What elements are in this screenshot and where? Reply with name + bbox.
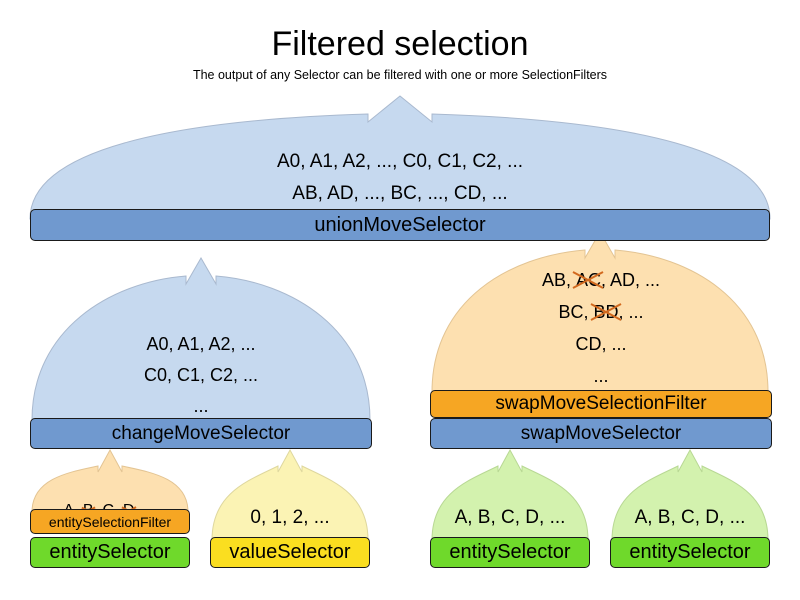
entity-selector-4-bar[interactable]: entitySelector [610,537,770,568]
union-output-text: A0, A1, A2, ..., C0, C1, C2, ... AB, AD,… [30,146,770,210]
swap-output-line-4: ... [432,360,770,392]
union-move-selector-bar[interactable]: unionMoveSelector [30,209,770,241]
value-selector-output-text: 0, 1, 2, ... [210,505,370,531]
swap-output-line-2-pre: BC, [558,302,593,322]
swap-output-line-2: BC, BD, ... [432,296,770,328]
swap-output-text: AB, AC, AD, ... BC, BD, ... CD, ... ... [432,264,770,392]
swap-move-selection-filter-bar[interactable]: swapMoveSelectionFilter [430,390,772,418]
entity-selector-3-bar[interactable]: entitySelector [430,537,590,568]
entity-selector-4-output-text: A, B, C, D, ... [610,505,770,531]
swap-output-line-1-post: , AD, ... [601,270,660,290]
swap-output-line-1: AB, AC, AD, ... [432,264,770,296]
change-output-line-2: C0, C1, C2, ... [32,360,370,391]
union-output-line-1: A0, A1, A2, ..., C0, C1, C2, ... [30,146,770,178]
diagram-canvas: Filtered selection The output of any Sel… [0,0,800,600]
swap-output-line-1-pre: AB, [542,270,576,290]
change-move-selector-bar[interactable]: changeMoveSelector [30,418,372,449]
swap-output-line-2-post: , ... [619,302,644,322]
value-selector-bar[interactable]: valueSelector [210,537,370,568]
value-selector-output-line: 0, 1, 2, ... [210,505,370,531]
swap-output-line-3: CD, ... [432,328,770,360]
entity-selector-4-output-line: A, B, C, D, ... [610,505,770,531]
entity-selector-3-output-text: A, B, C, D, ... [430,505,590,531]
change-output-line-1: A0, A1, A2, ... [32,329,370,360]
entity-selection-filter-bar[interactable]: entitySelectionFilter [30,509,190,534]
swap-struck-item-bd: BD [593,296,618,328]
union-output-line-2: AB, AD, ..., BC, ..., CD, ... [30,178,770,210]
change-output-text: A0, A1, A2, ... C0, C1, C2, ... ... [32,329,370,422]
entity-selector-1-bar[interactable]: entitySelector [30,537,190,568]
swap-move-selector-bar[interactable]: swapMoveSelector [430,418,772,449]
swap-struck-item-ac: AC [576,264,601,296]
entity-selector-3-output-line: A, B, C, D, ... [430,505,590,531]
